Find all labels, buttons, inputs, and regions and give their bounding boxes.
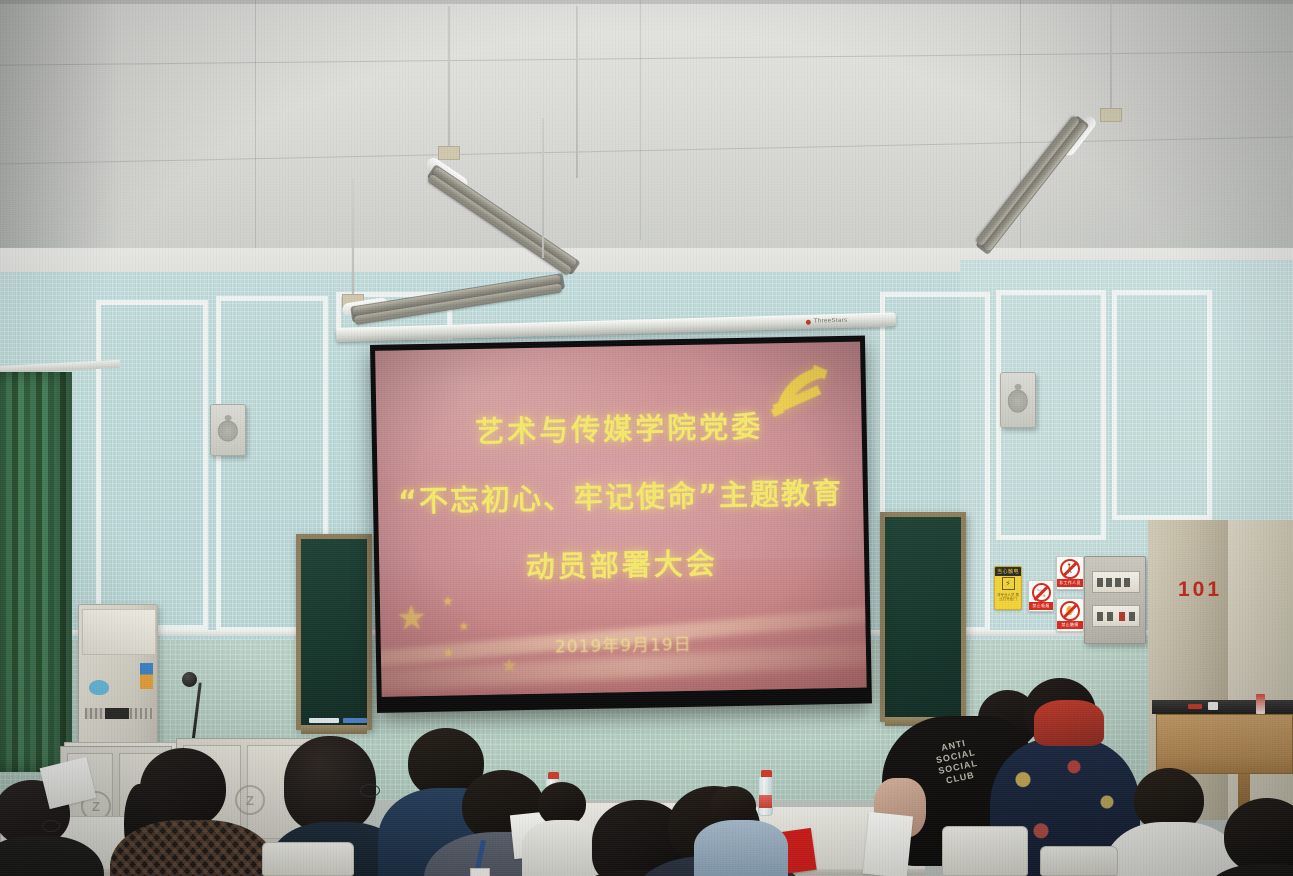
no-entry-icon: 🚶 [1060,559,1080,579]
lightning-bolt-icon: ⚡ [1002,577,1015,590]
handout-paper[interactable] [863,812,913,876]
bench-item-red [1188,704,1202,709]
no-touch-sign: ✋ 禁止触摸 [1056,598,1084,632]
slide-vignette [375,342,867,697]
brand-label: ThreeStars [814,318,848,325]
projection-screen: ★ ★ ★ ★ ★ 艺术与传媒学院党委 “不忘初心、牢记使命”主题教育 动员部署… [370,335,872,712]
no-entry-person-sign: 🚶 非工作人员 [1056,556,1084,590]
breaker-row-top[interactable] [1092,571,1140,593]
wall-panel [96,300,208,630]
ac-energy-label [140,663,153,689]
glasses-icon [42,820,60,832]
no-smoking-icon: 🚬 [1032,583,1051,602]
window-curtain[interactable] [0,372,72,772]
blackboard-right [880,512,966,722]
slide-surface: ★ ★ ★ ★ ★ 艺术与传媒学院党委 “不忘初心、牢记使命”主题教育 动员部署… [375,342,867,697]
classroom-meeting-photo: ThreeStars ★ ★ ★ ★ ★ [0,0,1293,876]
breaker-row-bottom[interactable] [1092,605,1140,627]
room-number: 101 [1178,578,1222,602]
wall-panel [1112,290,1212,520]
head [284,736,376,832]
wall-speaker-left [210,404,246,456]
bottle-label [759,795,772,808]
no-smoking-caption: 禁止吸烟 [1029,602,1053,610]
chair[interactable] [262,842,354,876]
no-entry-caption: 非工作人员 [1057,579,1083,587]
cabinet-seal: Z [235,785,265,815]
blackboard-left [296,534,372,730]
torso [1034,700,1104,746]
torso [694,820,788,876]
electrical-panel[interactable] [1084,556,1146,644]
ac-display [105,708,129,719]
microphone-icon[interactable] [182,672,197,687]
ac-brand-icon [89,680,109,695]
id-badge [470,868,490,876]
glasses-icon [360,784,380,797]
bench-item-bottle [1256,694,1265,714]
projector-screen-brand: ThreeStars [806,315,878,327]
chair[interactable] [942,826,1028,876]
bottle-cap [548,772,559,779]
no-smoking-sign: 🚬 禁止吸烟 [1028,580,1054,612]
brand-dot-icon [806,319,811,324]
chair[interactable] [1040,846,1118,876]
wall-speaker-right [1000,372,1036,428]
no-touch-caption: 禁止触摸 [1057,621,1083,629]
water-bottle[interactable] [758,776,773,816]
warning-sign-header: 当心触电 [995,567,1021,576]
no-touch-icon: ✋ [1060,601,1080,621]
warning-sign-body: 非专业人员 禁止打开此门 [995,592,1021,602]
warning-electric-shock-sign: 当心触电 ⚡ 非专业人员 禁止打开此门 [994,566,1022,610]
head [1224,798,1293,874]
air-conditioner[interactable] [78,604,158,746]
bench-item-white [1208,702,1218,710]
bottle-cap [761,770,772,777]
